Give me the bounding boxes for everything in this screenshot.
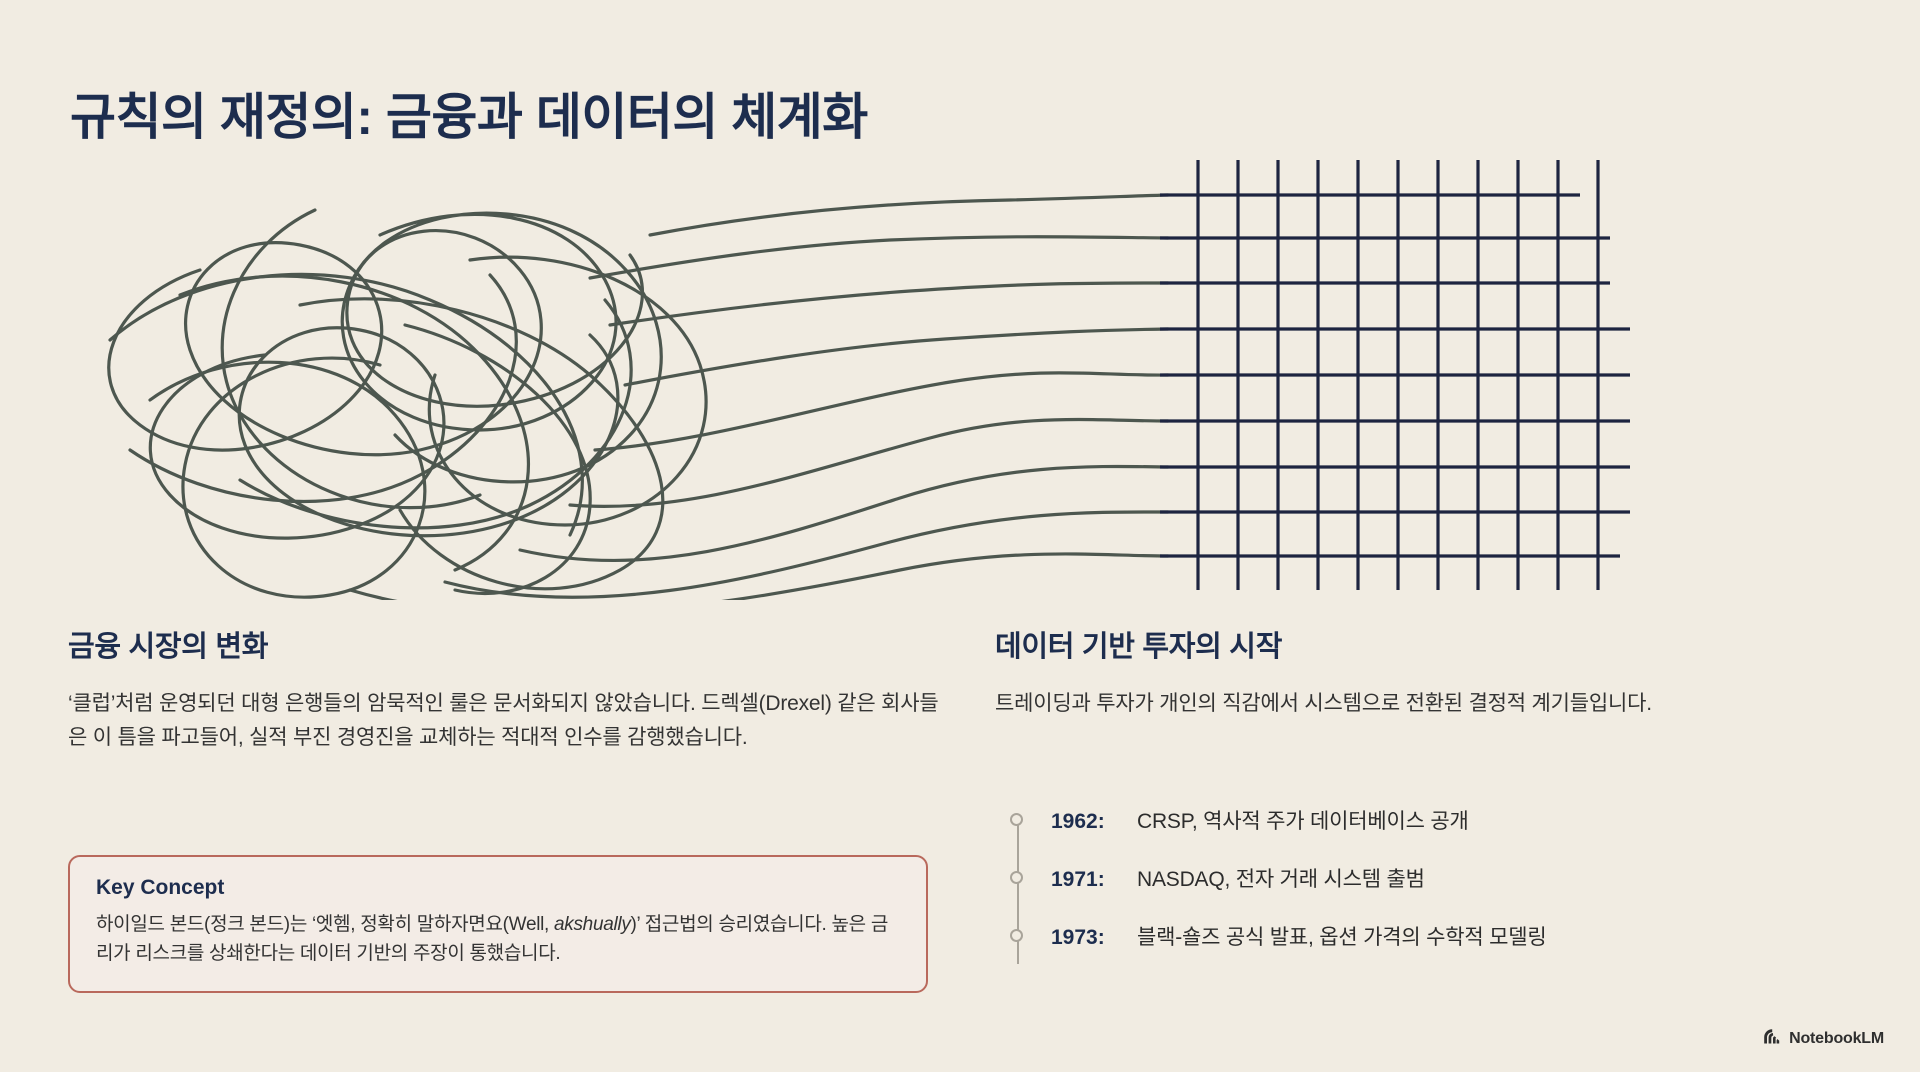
timeline-text: NASDAQ, 전자 거래 시스템 출범: [1137, 863, 1425, 893]
key-concept-body: 하이일드 본드(정크 본드)는 ‘엣헴, 정확히 말하자면요(Well, aks…: [96, 910, 900, 969]
timeline-year: 1971:: [1051, 868, 1137, 892]
notebooklm-logo-icon: [1763, 1028, 1782, 1050]
right-column: 데이터 기반 투자의 시작 트레이딩과 투자가 개인의 직감에서 시스템으로 전…: [995, 630, 1785, 721]
timeline-dot-icon: [1010, 871, 1023, 884]
timeline-year: 1962:: [1051, 810, 1137, 834]
timeline-item: 1971: NASDAQ, 전자 거래 시스템 출범: [1007, 863, 1797, 921]
slide-root: 규칙의 재정의: 금융과 데이터의 체계화: [0, 0, 1920, 1072]
timeline: 1962: CRSP, 역사적 주가 데이터베이스 공개 1971: NASDA…: [1007, 805, 1797, 979]
timeline-dot-icon: [1010, 813, 1023, 826]
key-concept-label: Key Concept: [96, 876, 900, 900]
notebooklm-brand-label: NotebookLM: [1789, 1030, 1884, 1048]
key-concept-card: Key Concept 하이일드 본드(정크 본드)는 ‘엣헴, 정확히 말하자…: [68, 855, 928, 993]
timeline-text: 블랙-숄즈 공식 발표, 옵션 가격의 수학적 모델링: [1137, 921, 1547, 951]
page-title: 규칙의 재정의: 금융과 데이터의 체계화: [70, 88, 868, 147]
timeline-year: 1973:: [1051, 926, 1137, 950]
right-column-heading: 데이터 기반 투자의 시작: [995, 630, 1785, 665]
timeline-item: 1973: 블랙-숄즈 공식 발표, 옵션 가격의 수학적 모델링: [1007, 921, 1797, 979]
left-column-body: ‘클럽’처럼 운영되던 대형 은행들의 암묵적인 룰은 문서화되지 않았습니다.…: [68, 687, 948, 755]
key-concept-emphasis: akshually: [554, 914, 631, 935]
left-column-heading: 금융 시장의 변화: [68, 630, 948, 665]
chaos-to-order-illustration: [50, 150, 1880, 600]
timeline-text: CRSP, 역사적 주가 데이터베이스 공개: [1137, 805, 1469, 835]
notebooklm-brand: NotebookLM: [1763, 1028, 1884, 1050]
left-column: 금융 시장의 변화 ‘클럽’처럼 운영되던 대형 은행들의 암묵적인 룰은 문서…: [68, 630, 948, 755]
key-concept-body-part-1: 하이일드 본드(정크 본드)는 ‘엣헴, 정확히 말하자면요(Well,: [96, 914, 554, 935]
right-column-body: 트레이딩과 투자가 개인의 직감에서 시스템으로 전환된 결정적 계기들입니다.: [995, 687, 1785, 721]
timeline-item: 1962: CRSP, 역사적 주가 데이터베이스 공개: [1007, 805, 1797, 863]
timeline-dot-icon: [1010, 929, 1023, 942]
